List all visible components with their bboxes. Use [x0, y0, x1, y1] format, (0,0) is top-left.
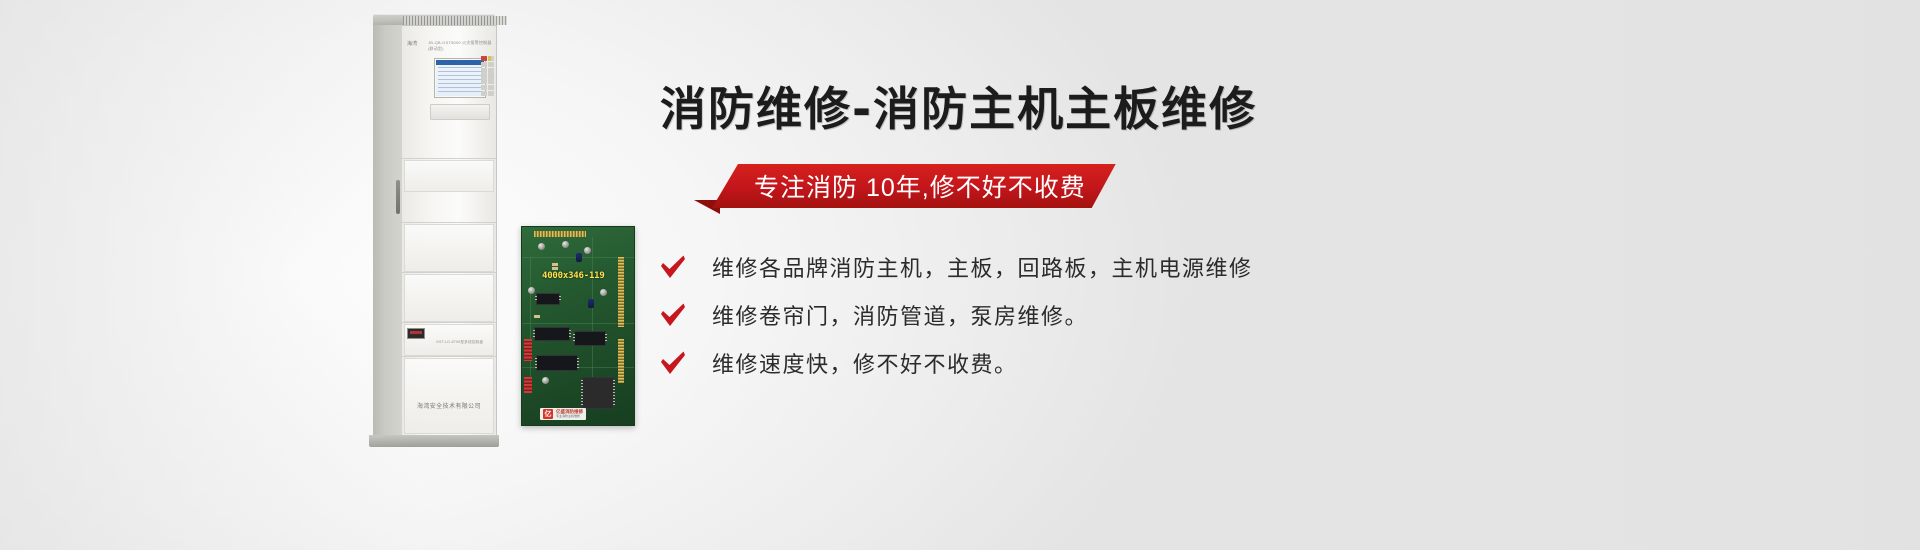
keypad-key: [491, 85, 494, 90]
keypad-key: [491, 91, 494, 96]
cabinet-lower-blank-panel: [404, 358, 494, 434]
cabinet-blank-panel: [404, 224, 494, 272]
keypad-key: [491, 56, 494, 61]
pcb-pin-header: [534, 231, 586, 237]
keypad-key: [481, 68, 484, 73]
fire-alarm-mainboard-pcb-image: 4000x346-119 亿 亿盛消防维修 专业消防主机维修: [521, 226, 635, 426]
pcb-resistor: [552, 263, 558, 266]
cabinet-left-side-panel: [373, 25, 404, 435]
check-icon: [660, 303, 686, 327]
pcb-resistor: [552, 267, 558, 270]
pcb-capacitor: [562, 241, 569, 248]
cabinet-digital-meter: [407, 328, 425, 339]
cabinet-drawer-panel: [430, 104, 490, 120]
pcb-watermark-badge: 亿 亿盛消防维修 专业消防主机维修: [540, 408, 586, 420]
cabinet-company-label: 海湾安全技术有限公司: [402, 401, 496, 410]
list-item: 维修速度快，修不好不收费。: [660, 340, 1840, 386]
cabinet-indicator-bank-upper: [406, 124, 492, 146]
promo-banner: 海湾 JB-QB-GST5000 火灾报警控制器(联动型): [0, 0, 1920, 550]
pcb-ic-chip: [534, 327, 570, 341]
keypad-key: [481, 79, 484, 84]
keypad-key: [484, 68, 487, 73]
pcb-red-connector: [524, 339, 532, 361]
pcb-resistor: [534, 315, 540, 318]
cabinet-vent-grille: [403, 16, 507, 25]
keypad-key: [488, 73, 491, 78]
cabinet-keypad: [486, 56, 495, 96]
check-icon: [660, 351, 686, 375]
ribbon-label: 专注消防 10年,修不好不收费: [712, 164, 1116, 208]
keypad-key: [491, 62, 494, 67]
keypad-grid: [481, 56, 494, 96]
banner-headline: 消防维修-消防主机主板维修: [660, 86, 1840, 132]
keypad-key: [488, 91, 491, 96]
list-item-label: 维修速度快，修不好不收费。: [712, 347, 1018, 379]
check-icon: [660, 255, 686, 279]
keypad-key: [488, 62, 491, 67]
cabinet-unit-label: GST-LD-8700型多线控制盘: [436, 340, 483, 345]
keypad-key: [481, 56, 484, 61]
keypad-key: [484, 91, 487, 96]
pcb-capacitor: [542, 377, 549, 384]
keypad-key: [484, 62, 487, 67]
keypad-key: [488, 56, 491, 61]
keypad-key: [484, 73, 487, 78]
pcb-edge-connector: [618, 257, 624, 327]
pcb-capacitor: [584, 247, 591, 254]
pcb-printed-number: 4000x346-119: [542, 271, 605, 281]
keypad-key: [488, 68, 491, 73]
pcb-eprom-chip: [582, 377, 614, 409]
fire-alarm-control-cabinet-image: 海湾 JB-QB-GST5000 火灾报警控制器(联动型): [355, 14, 503, 446]
keypad-key: [491, 79, 494, 84]
keypad-key: [481, 62, 484, 67]
cabinet-brand-label: 海湾: [407, 40, 418, 47]
keypad-key: [488, 85, 491, 90]
banner-ribbon: 专注消防 10年,修不好不收费: [660, 164, 1840, 210]
pcb-trace: [592, 237, 593, 397]
keypad-key: [484, 79, 487, 84]
cabinet-lcd-screen: [434, 58, 486, 98]
cabinet-panel-divider: [402, 322, 496, 323]
list-item-label: 维修卷帘门，消防管道，泵房维修。: [712, 299, 1088, 331]
pcb-capacitor: [528, 287, 535, 294]
pcb-edge-connector: [618, 339, 624, 383]
lcd-content: [436, 60, 484, 96]
keypad-key: [481, 91, 484, 96]
keypad-key: [491, 73, 494, 78]
cabinet-model-label: JB-QB-GST5000 火灾报警控制器(联动型): [428, 40, 496, 52]
pcb-ic-chip: [536, 293, 560, 305]
pcb-capacitor: [538, 243, 545, 250]
pcb-capacitor: [600, 289, 607, 296]
cabinet-panel-divider: [402, 356, 496, 357]
cabinet-indicator-bank-lower: [406, 196, 492, 218]
cabinet-panel-divider: [402, 272, 496, 273]
pcb-red-connector: [524, 377, 532, 393]
badge-logo-mark: 亿: [543, 409, 553, 419]
cabinet-panel-divider: [402, 158, 496, 159]
badge-subtitle: 专业消防主机维修: [556, 415, 583, 418]
cabinet-panel-divider: [402, 222, 496, 223]
keypad-key: [491, 68, 494, 73]
keypad-key: [481, 85, 484, 90]
pcb-ic-chip: [536, 355, 578, 371]
cabinet-front-face: 海湾 JB-QB-GST5000 火灾报警控制器(联动型): [402, 25, 497, 437]
cabinet-base-plinth: [369, 435, 499, 447]
badge-text-group: 亿盛消防维修 专业消防主机维修: [556, 410, 583, 418]
banner-content: 消防维修-消防主机主板维修 专注消防 10年,修不好不收费 维修各品牌消防主机，…: [660, 86, 1840, 402]
cabinet-blank-panel: [404, 160, 494, 192]
feature-list: 维修各品牌消防主机，主板，回路板，主机电源维修 维修卷帘门，消防管道，泵房维修。…: [660, 244, 1840, 386]
list-item-label: 维修各品牌消防主机，主板，回路板，主机电源维修: [712, 251, 1253, 283]
list-item: 维修卷帘门，消防管道，泵房维修。: [660, 292, 1840, 338]
keypad-key: [484, 85, 487, 90]
pcb-blue-capacitor: [588, 299, 594, 308]
keypad-key: [484, 56, 487, 61]
pcb-ic-chip: [574, 331, 606, 346]
list-item: 维修各品牌消防主机，主板，回路板，主机电源维修: [660, 244, 1840, 290]
keypad-key: [481, 73, 484, 78]
keypad-key: [488, 79, 491, 84]
cabinet-blank-panel: [404, 274, 494, 322]
pcb-blue-capacitor: [576, 253, 582, 262]
